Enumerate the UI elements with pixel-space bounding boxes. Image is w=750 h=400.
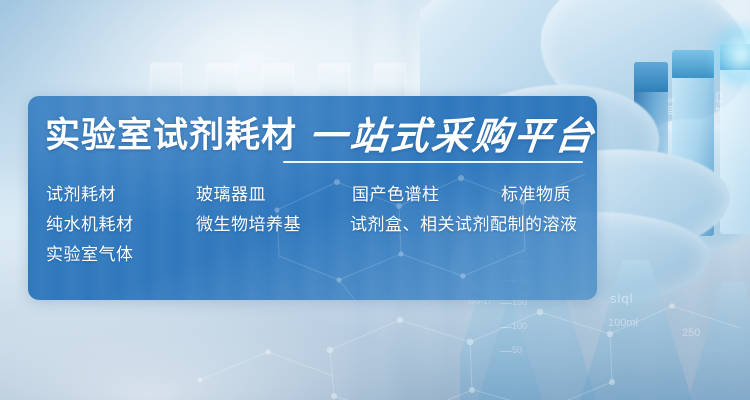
category-list: 试剂耗材 玻璃器皿 国产色谱柱 标准物质 纯水机耗材 微生物培养基 试剂盒、相关… (46, 180, 591, 270)
category-row-2: 纯水机耗材 微生物培养基 试剂盒、相关试剂配制的溶液 (46, 210, 591, 240)
category-item-reagent-consumables[interactable]: 试剂耗材 (46, 180, 116, 210)
category-item-domestic-chromatography-column[interactable]: 国产色谱柱 (352, 180, 440, 210)
category-row-1: 试剂耗材 玻璃器皿 国产色谱柱 标准物质 (46, 180, 591, 210)
headline-script: 一站式采购平台 (307, 116, 597, 156)
category-row-3: 实验室气体 (46, 240, 591, 270)
vial-label-right: CJ-1 (713, 92, 724, 124)
category-item-reference-materials[interactable]: 标准物质 (501, 180, 571, 210)
category-item-reagent-kits-solutions[interactable]: 试剂盒、相关试剂配制的溶液 (350, 210, 578, 240)
banner-root: CJ-1 5 ml T-81 kt-0 250 APPROX 200 150 1… (0, 0, 750, 400)
headline-primary: 实验室试剂耗材 (45, 116, 297, 156)
headline-underline (283, 161, 583, 163)
category-item-laboratory-gases[interactable]: 实验室气体 (46, 240, 134, 270)
category-item-microbial-culture-media[interactable]: 微生物培养基 (196, 210, 301, 240)
vial-cap-left (634, 62, 668, 92)
category-item-glassware[interactable]: 玻璃器皿 (196, 180, 266, 210)
banner-headline: 实验室试剂耗材 一站式采购平台 (45, 116, 596, 156)
promo-panel: 实验室试剂耗材 一站式采购平台 试剂耗材 玻璃器皿 国产色谱柱 标准物质 纯水机… (28, 96, 597, 300)
category-item-water-purifier-consumables[interactable]: 纯水机耗材 (46, 210, 134, 240)
